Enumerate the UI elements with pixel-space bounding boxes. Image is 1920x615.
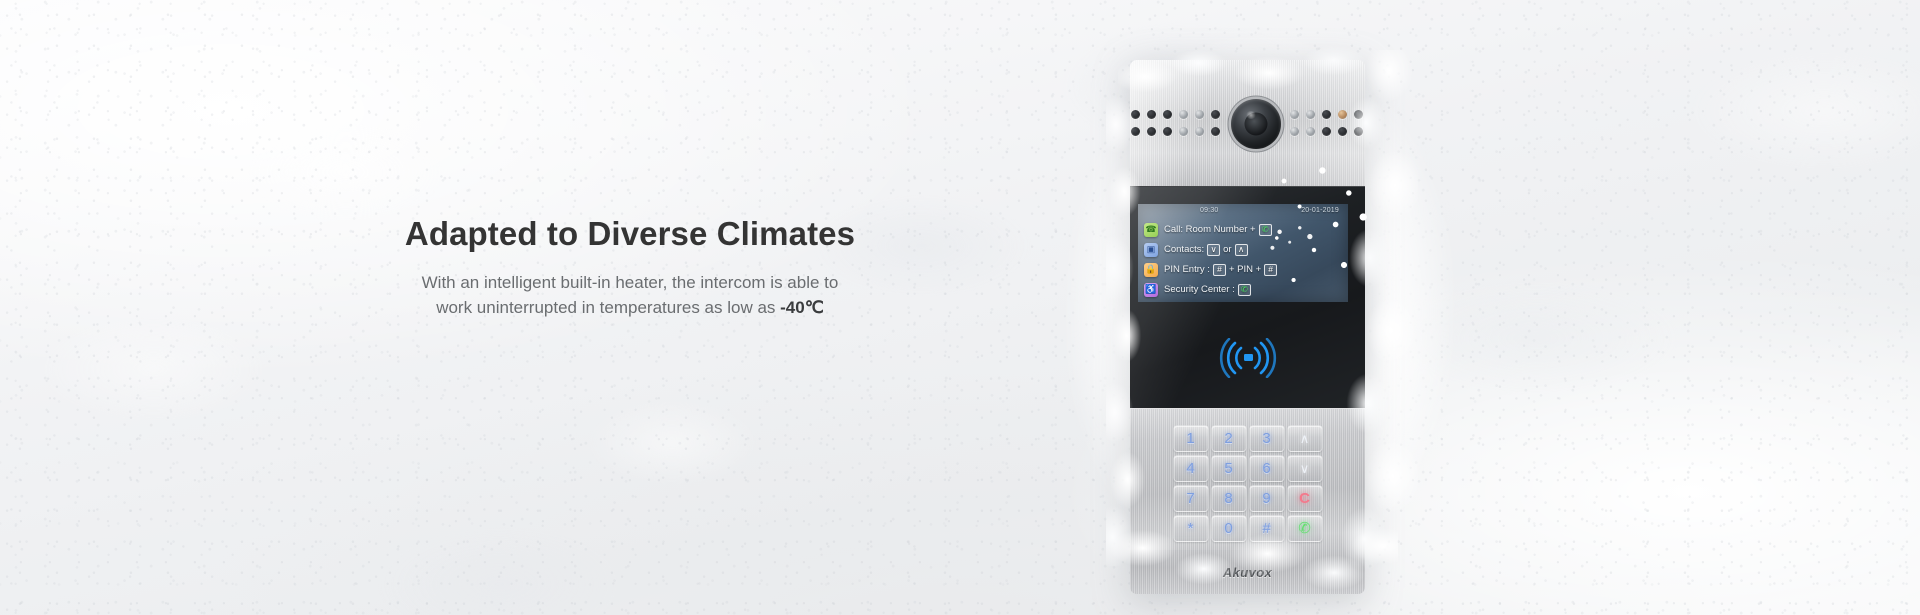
lcd-menu-label: Contacts: ∨ or ∧ (1164, 244, 1248, 256)
speaker-hole (1131, 127, 1140, 136)
keypad-key-up[interactable]: ∧ (1287, 425, 1322, 452)
banner-copy-block: Adapted to Diverse Climates With an inte… (300, 215, 960, 321)
subtitle-line-1: With an intelligent built-in heater, the… (422, 273, 839, 292)
snow-grain-texture (0, 0, 1920, 615)
rfid-card-reader-icon (1219, 338, 1277, 378)
down-key-chip: ∨ (1207, 244, 1220, 256)
speaker-hole (1163, 110, 1172, 119)
lock-icon: 🔒 (1144, 263, 1158, 277)
keypad-key-2[interactable]: 2 (1211, 425, 1246, 452)
hash-key-chip-2: # (1264, 264, 1277, 276)
device-brand-panel: Akuvox (1130, 550, 1365, 594)
page-title: Adapted to Diverse Climates (300, 215, 960, 253)
speaker-hole (1147, 127, 1156, 136)
light-sensor (1338, 110, 1347, 119)
speaker-hole (1147, 110, 1156, 119)
lcd-menu-list: ☎ Call: Room Number + ✆ ▣ Contacts: ∨ (1138, 217, 1348, 299)
ir-led (1290, 127, 1299, 136)
keypad: 1 2 3 ∧ 4 5 6 ∨ 7 8 9 C * 0 # ✆ (1173, 425, 1322, 542)
ir-led (1179, 110, 1188, 119)
keypad-key-5[interactable]: 5 (1211, 455, 1246, 482)
lcd-date: 20-01-2019 (1301, 207, 1339, 214)
hash-key-chip-1: # (1213, 264, 1226, 276)
keypad-key-0[interactable]: 0 (1211, 515, 1246, 542)
keypad-key-star[interactable]: * (1173, 515, 1208, 542)
lcd-menu-label: PIN Entry : # + PIN + # (1164, 264, 1277, 276)
speaker-hole (1163, 127, 1172, 136)
speaker-hole (1354, 110, 1363, 119)
ir-led (1195, 127, 1204, 136)
lcd-call-text: Call: Room Number + (1164, 224, 1256, 235)
ir-led (1195, 110, 1204, 119)
ir-led (1179, 127, 1188, 136)
keypad-key-down[interactable]: ∨ (1287, 455, 1322, 482)
device-glass-panel: 09:30 20-01-2019 ☎ Call: Room Number + ✆ (1130, 186, 1365, 408)
lcd-contacts-text: Contacts: (1164, 244, 1204, 255)
rfid-card-reader[interactable] (1217, 335, 1279, 381)
lcd-menu-item-call[interactable]: ☎ Call: Room Number + ✆ (1144, 220, 1348, 239)
lcd-pin-mid-text: + PIN + (1229, 264, 1261, 275)
speaker-hole (1322, 110, 1331, 119)
lcd-security-text: Security Center : (1164, 284, 1235, 295)
ir-led (1290, 110, 1299, 119)
ir-led (1306, 127, 1315, 136)
lcd-menu-label: Call: Room Number + ✆ (1164, 224, 1272, 236)
lcd-clock: 09:30 (1200, 207, 1219, 214)
speaker-hole (1322, 127, 1331, 136)
speaker-grille-left (1131, 110, 1222, 138)
contacts-icon: ▣ (1144, 243, 1158, 257)
keypad-key-4[interactable]: 4 (1173, 455, 1208, 482)
temperature-value: -40℃ (780, 298, 824, 317)
keypad-key-hash[interactable]: # (1249, 515, 1284, 542)
subtitle-line-2: work uninterrupted in temperatures as lo… (436, 298, 780, 317)
keypad-key-3[interactable]: 3 (1249, 425, 1284, 452)
device-keypad-panel: 1 2 3 ∧ 4 5 6 ∨ 7 8 9 C * 0 # ✆ (1130, 408, 1365, 550)
lcd-screen[interactable]: 09:30 20-01-2019 ☎ Call: Room Number + ✆ (1138, 204, 1348, 302)
ir-led (1306, 110, 1315, 119)
up-key-chip: ∧ (1235, 244, 1248, 256)
brushed-metal-texture (1130, 550, 1365, 594)
intercom-device: 09:30 20-01-2019 ☎ Call: Room Number + ✆ (1110, 40, 1410, 585)
keypad-key-1[interactable]: 1 (1173, 425, 1208, 452)
phone-key-chip: ✆ (1259, 224, 1272, 236)
keypad-key-dial[interactable]: ✆ (1287, 515, 1322, 542)
speaker-hole (1211, 110, 1220, 119)
security-phone-key-chip: ✆ (1238, 284, 1251, 296)
lcd-menu-label: Security Center : ✆ (1164, 284, 1251, 296)
speaker-hole (1338, 127, 1347, 136)
keypad-key-7[interactable]: 7 (1173, 485, 1208, 512)
speaker-hole (1211, 127, 1220, 136)
speaker-grille-right (1290, 110, 1365, 138)
lcd-menu-item-contacts[interactable]: ▣ Contacts: ∨ or ∧ (1144, 240, 1348, 259)
security-center-icon: ♿ (1144, 283, 1158, 297)
climate-banner: Adapted to Diverse Climates With an inte… (0, 0, 1920, 615)
intercom-body: 09:30 20-01-2019 ☎ Call: Room Number + ✆ (1130, 60, 1365, 550)
keypad-key-cancel[interactable]: C (1287, 485, 1322, 512)
lcd-or-text: or (1223, 244, 1231, 255)
lcd-menu-item-security[interactable]: ♿ Security Center : ✆ (1144, 280, 1348, 299)
keypad-key-8[interactable]: 8 (1211, 485, 1246, 512)
speaker-hole (1354, 127, 1363, 136)
camera-and-speaker-row (1130, 102, 1365, 146)
keypad-key-9[interactable]: 9 (1249, 485, 1284, 512)
lcd-pin-text: PIN Entry : (1164, 264, 1210, 275)
keypad-key-6[interactable]: 6 (1249, 455, 1284, 482)
speaker-hole (1131, 110, 1140, 119)
lcd-menu-item-pin[interactable]: 🔒 PIN Entry : # + PIN + # (1144, 260, 1348, 279)
camera-lens (1231, 99, 1281, 149)
lcd-status-bar: 09:30 20-01-2019 (1138, 204, 1348, 217)
phone-call-icon: ☎ (1144, 223, 1158, 237)
device-top-panel (1130, 60, 1365, 186)
banner-subtitle: With an intelligent built-in heater, the… (300, 270, 960, 321)
